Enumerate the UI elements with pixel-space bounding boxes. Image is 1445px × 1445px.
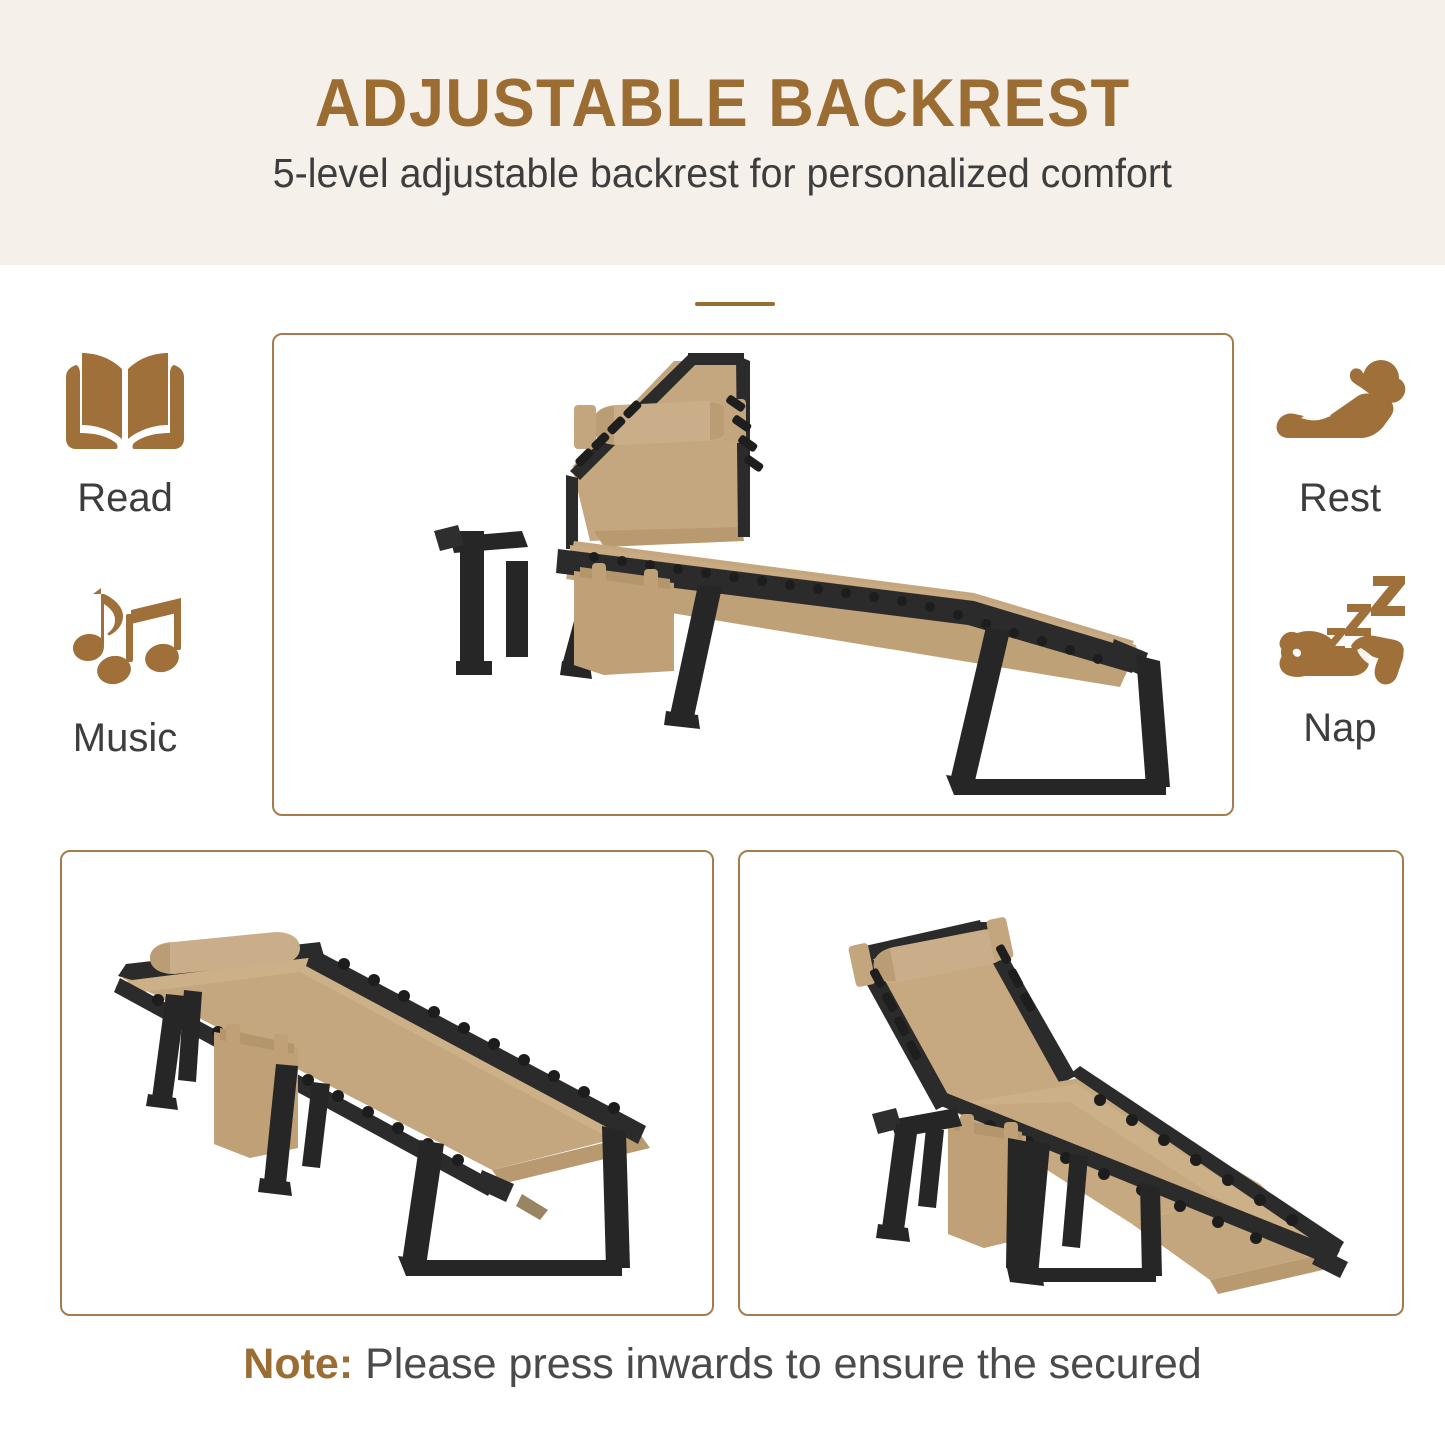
feature-read: Read [25, 335, 225, 518]
person-sleeping-zzz-icon [1240, 565, 1440, 700]
page-subtitle: 5-level adjustable backrest for personal… [273, 150, 1172, 197]
lounger-reclined-backrest-photo [272, 333, 1234, 816]
feature-music: Music [25, 575, 225, 758]
feature-rest-label: Rest [1240, 478, 1440, 518]
open-book-icon [25, 335, 225, 470]
feature-music-label: Music [25, 718, 225, 758]
note-label: Note: [243, 1340, 353, 1388]
person-reclining-icon [1240, 335, 1440, 470]
feature-read-label: Read [25, 478, 225, 518]
lounger-flat-bed-photo [60, 850, 714, 1316]
page-title: ADJUSTABLE BACKREST [315, 68, 1131, 139]
lounger-upright-recline-photo [738, 850, 1404, 1316]
section-divider-dash [695, 302, 775, 306]
music-notes-icon [25, 575, 225, 710]
header-band: ADJUSTABLE BACKREST 5-level adjustable b… [0, 0, 1445, 265]
note-text: Please press inwards to ensure the secur… [353, 1340, 1202, 1388]
feature-nap-label: Nap [1240, 708, 1440, 748]
feature-rest: Rest [1240, 335, 1440, 518]
feature-nap: Nap [1240, 565, 1440, 748]
footer-note: Note: Please press inwards to ensure the… [0, 1340, 1445, 1389]
